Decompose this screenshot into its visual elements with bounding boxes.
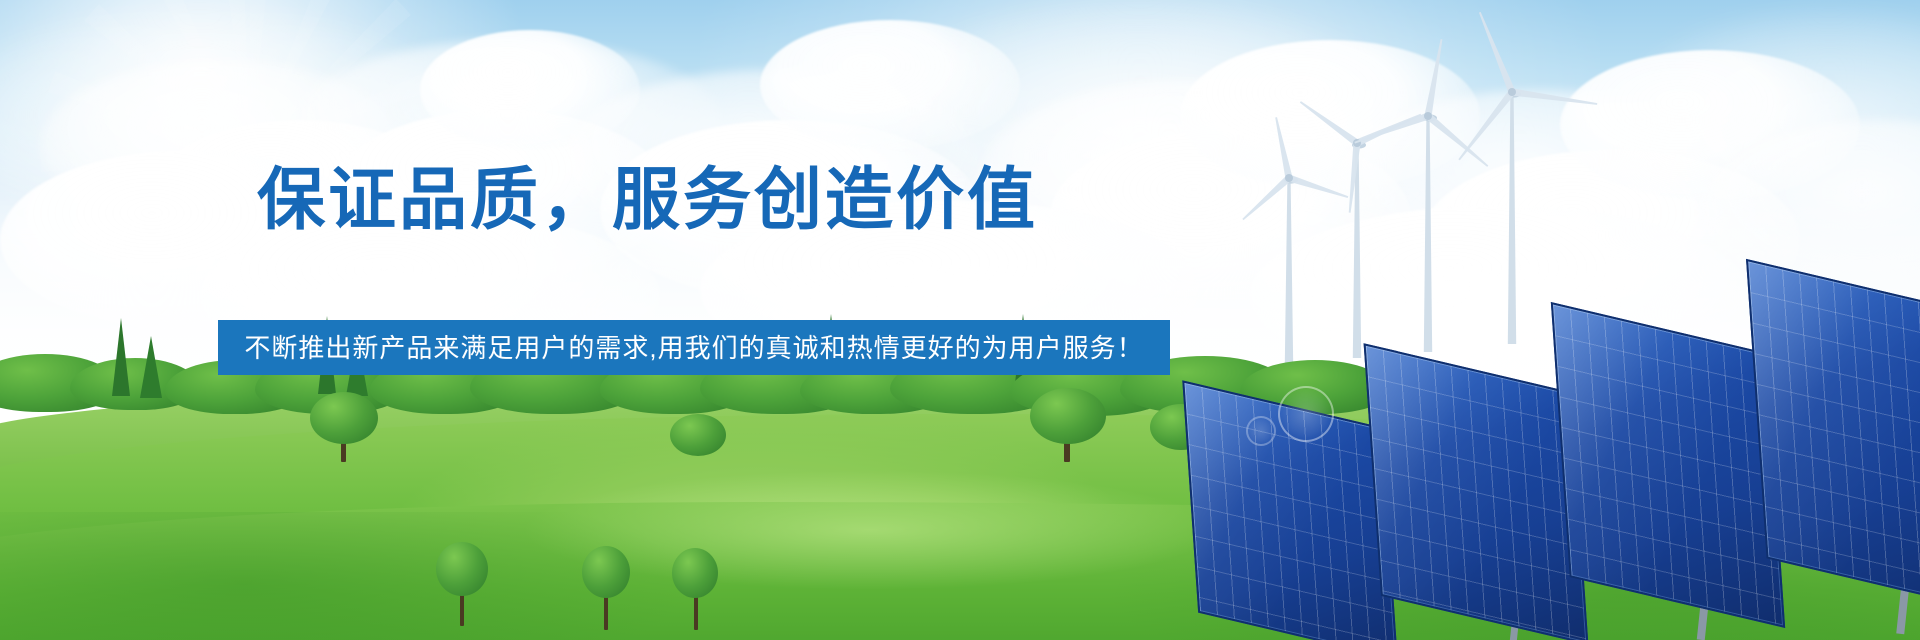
tree-foreground-1 bbox=[310, 392, 378, 444]
tree-foreground-4 bbox=[1150, 404, 1212, 450]
hero-banner: 保证品质，服务创造价值 不断推出新产品来满足用户的需求,用我们的真诚和热情更好的… bbox=[0, 0, 1920, 640]
page-title: 保证品质，服务创造价值 bbox=[0, 166, 1295, 234]
subtitle-text: 不断推出新产品来满足用户的需求,用我们的真诚和热情更好的为用户服务！ bbox=[244, 335, 1143, 361]
tree-foreground-3 bbox=[670, 414, 726, 456]
sapling-4 bbox=[1242, 528, 1300, 586]
wind-turbine-3 bbox=[1354, 39, 1488, 352]
sapling-2 bbox=[582, 546, 630, 598]
tree-foreground-2 bbox=[1030, 388, 1106, 444]
sapling-group bbox=[0, 540, 1920, 640]
sapling-3 bbox=[672, 548, 718, 598]
wind-turbine-4 bbox=[1458, 12, 1597, 344]
sapling-1 bbox=[436, 542, 488, 596]
wind-turbine-1 bbox=[1242, 117, 1348, 364]
subtitle-banner: 不断推出新产品来满足用户的需求,用我们的真诚和热情更好的为用户服务！ bbox=[218, 320, 1170, 375]
